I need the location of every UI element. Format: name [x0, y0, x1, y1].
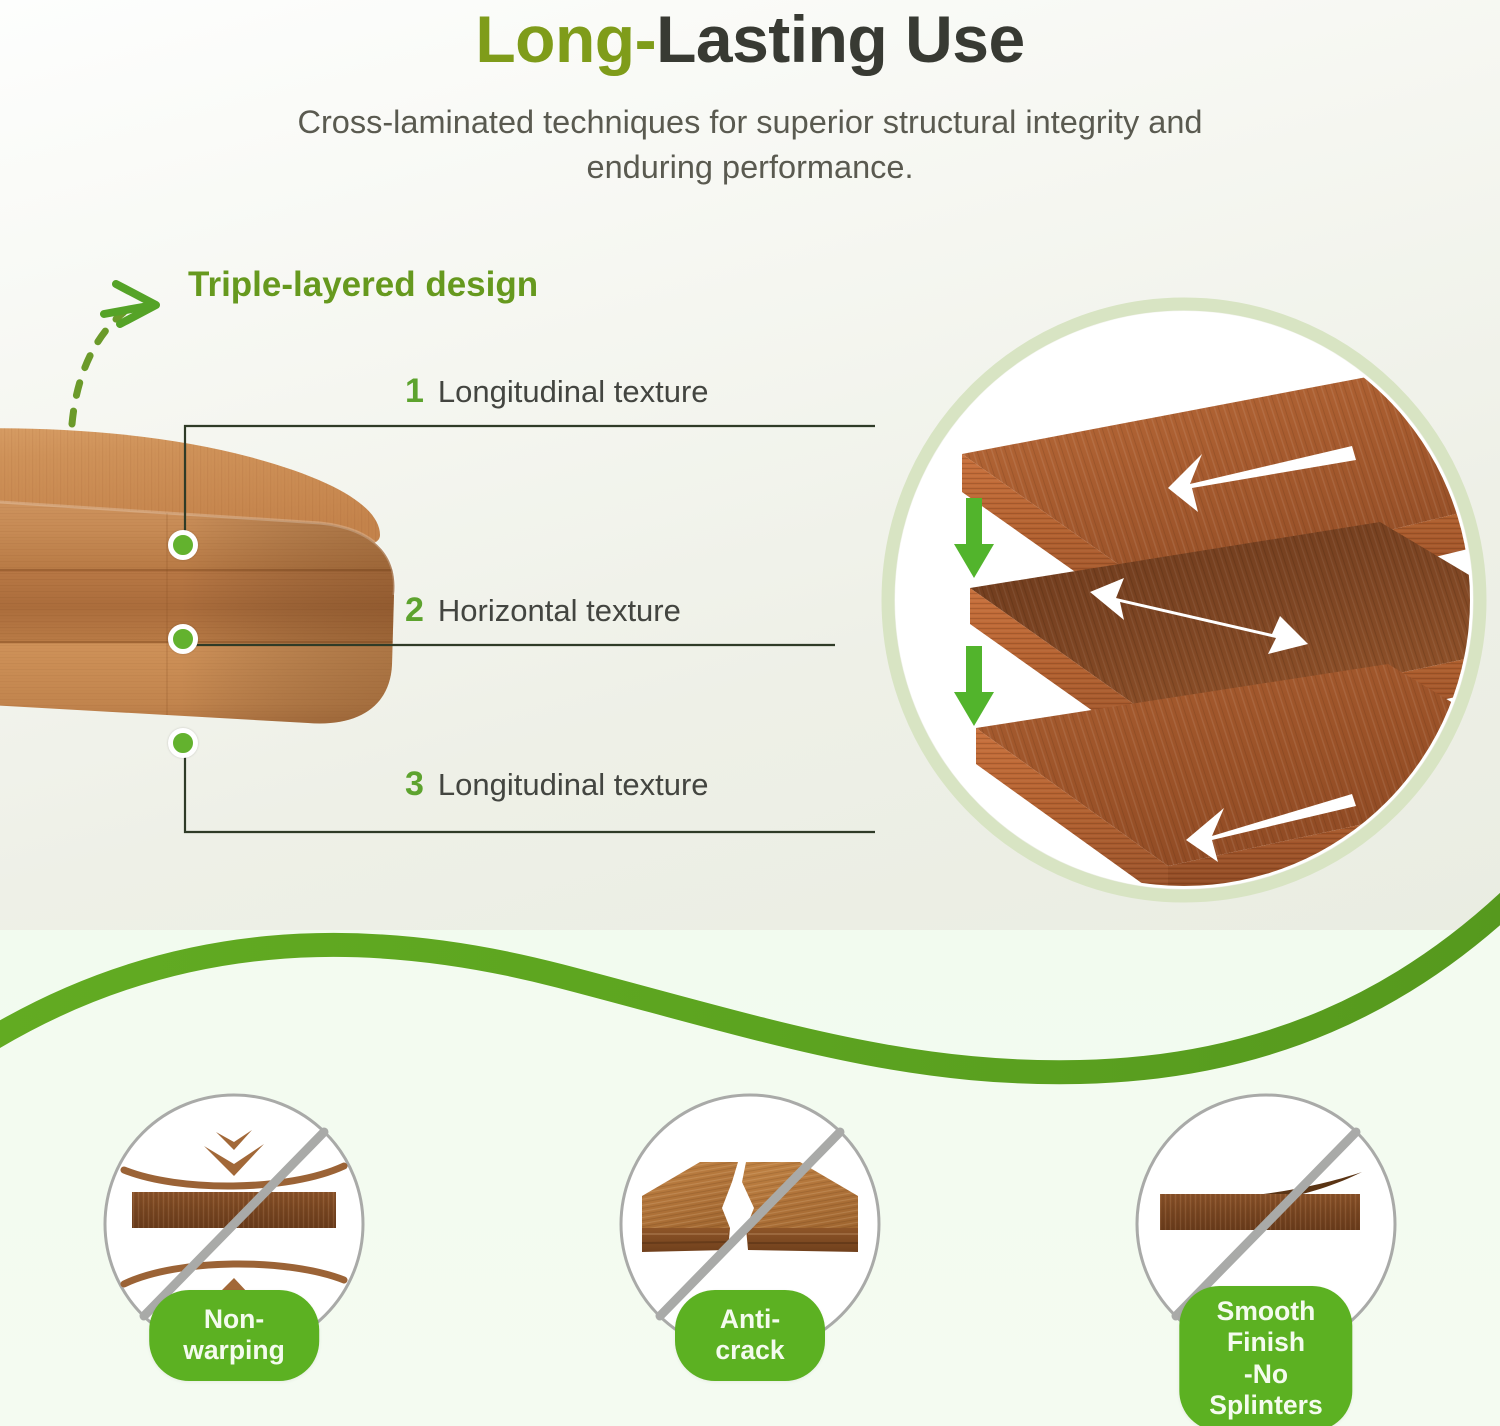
green-wave-divider	[0, 880, 1500, 1110]
page-title: Long-Lasting Use	[0, 4, 1500, 75]
leader-line-2	[175, 635, 845, 655]
title-dark-part: Lasting Use	[656, 2, 1025, 76]
leader-line-1	[175, 418, 895, 558]
title-green-part: Long-	[475, 2, 656, 76]
callout-1-number: 1	[405, 372, 424, 410]
badge-anti-crack: Anti-crack	[675, 1290, 825, 1381]
layer-dot-3[interactable]	[168, 728, 198, 758]
infographic-panel: Long-Lasting Use Cross-laminated techniq…	[0, 0, 1500, 1426]
triple-layered-heading: Triple-layered design	[188, 265, 538, 305]
callout-2-number: 2	[405, 591, 424, 629]
callout-3-label: Longitudinal texture	[438, 767, 709, 802]
callout-2: 2Horizontal texture	[405, 591, 681, 630]
callout-1: 1Longitudinal texture	[405, 372, 709, 411]
badge-non-warping: Non-warping	[149, 1290, 319, 1381]
callout-2-label: Horizontal texture	[438, 593, 681, 628]
layer-dot-2[interactable]	[168, 624, 198, 654]
feature-anti-crack: Anti-crack	[600, 1088, 900, 1360]
page-subtitle: Cross-laminated techniques for superior …	[250, 100, 1250, 190]
callout-3: 3Longitudinal texture	[405, 765, 709, 804]
feature-smooth-finish: Smooth Finish -No Splinters	[1116, 1088, 1416, 1360]
cross-laminated-layers-illustration	[872, 288, 1496, 912]
callout-1-label: Longitudinal texture	[438, 374, 709, 409]
badge-smooth-finish: Smooth Finish -No Splinters	[1179, 1286, 1352, 1426]
callout-3-number: 3	[405, 765, 424, 803]
feature-non-warping: Non-warping	[84, 1088, 384, 1360]
layer-dot-1[interactable]	[168, 530, 198, 560]
